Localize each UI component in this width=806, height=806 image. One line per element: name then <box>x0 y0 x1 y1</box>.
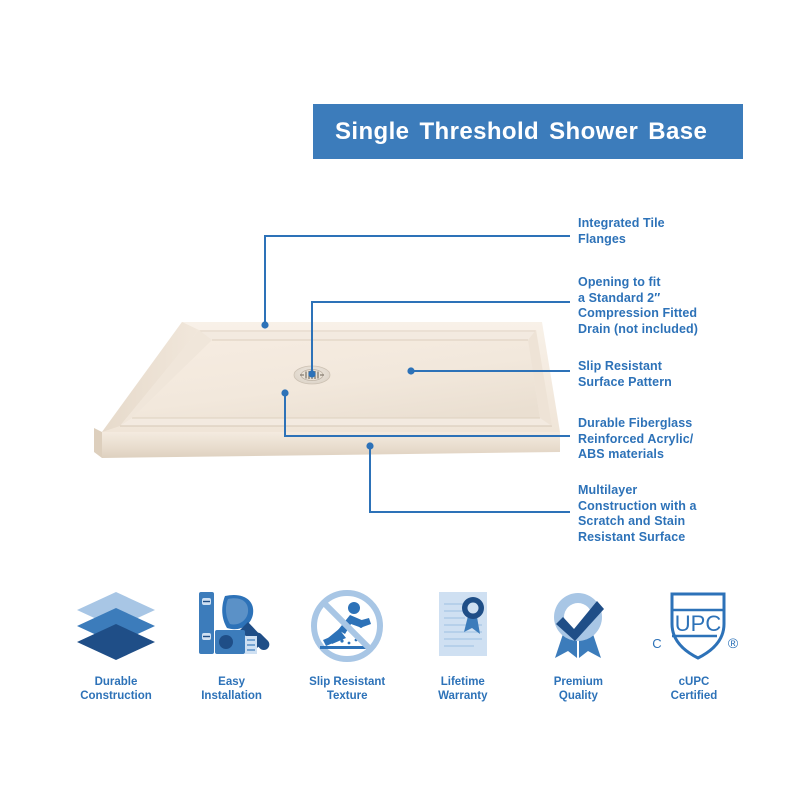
title-banner: Single Threshold Shower Base <box>313 104 743 159</box>
shower-base-svg <box>60 300 560 480</box>
feature-label-easy-installation: Easy Installation <box>201 675 262 703</box>
shower-base-illustration <box>60 300 560 480</box>
trowel-level-tape-icon <box>191 586 273 666</box>
front-face <box>102 432 560 458</box>
callout-slip-resistant-surface: Slip Resistant Surface Pattern <box>578 359 672 390</box>
upc-shield-text: UPC <box>675 611 722 636</box>
feature-slip-resistant-texture: Slip Resistant Texture <box>291 586 403 703</box>
left-end-face <box>94 428 102 458</box>
feature-label-slip-resistant-texture: Slip Resistant Texture <box>309 675 385 703</box>
feature-easy-installation: Easy Installation <box>176 586 288 703</box>
feature-label-premium-quality: Premium Quality <box>554 675 603 703</box>
feature-label-lifetime-warranty: Lifetime Warranty <box>438 675 487 703</box>
feature-label-cupc-certified: cUPC Certified <box>671 675 718 703</box>
checkmark-rosette-icon <box>537 586 619 666</box>
callout-multilayer-construction: Multilayer Construction with a Scratch a… <box>578 483 697 545</box>
callout-integrated-tile-flanges: Integrated Tile Flanges <box>578 216 665 247</box>
feature-icon-row: Durable Construction <box>60 586 750 716</box>
upc-prefix-mark: C <box>652 636 661 651</box>
callout-drain-opening: Opening to fit a Standard 2″ Compression… <box>578 275 698 337</box>
feature-premium-quality: Premium Quality <box>522 586 634 703</box>
feature-cupc-certified: UPC C ® cUPC Certified <box>638 586 750 703</box>
feature-label-durable-construction: Durable Construction <box>80 675 152 703</box>
layered-sheets-icon <box>75 586 157 666</box>
no-slip-icon <box>306 586 388 666</box>
page-title: Single Threshold Shower Base <box>313 118 707 146</box>
product-infographic: Single Threshold Shower Base <box>0 0 806 806</box>
feature-durable-construction: Durable Construction <box>60 586 172 703</box>
upc-shield-icon: UPC C ® <box>648 586 740 666</box>
callout-durable-fiberglass: Durable Fiberglass Reinforced Acrylic/ A… <box>578 416 693 463</box>
certificate-icon <box>422 586 504 666</box>
feature-lifetime-warranty: Lifetime Warranty <box>407 586 519 703</box>
upc-registered-mark: ® <box>728 635 739 651</box>
